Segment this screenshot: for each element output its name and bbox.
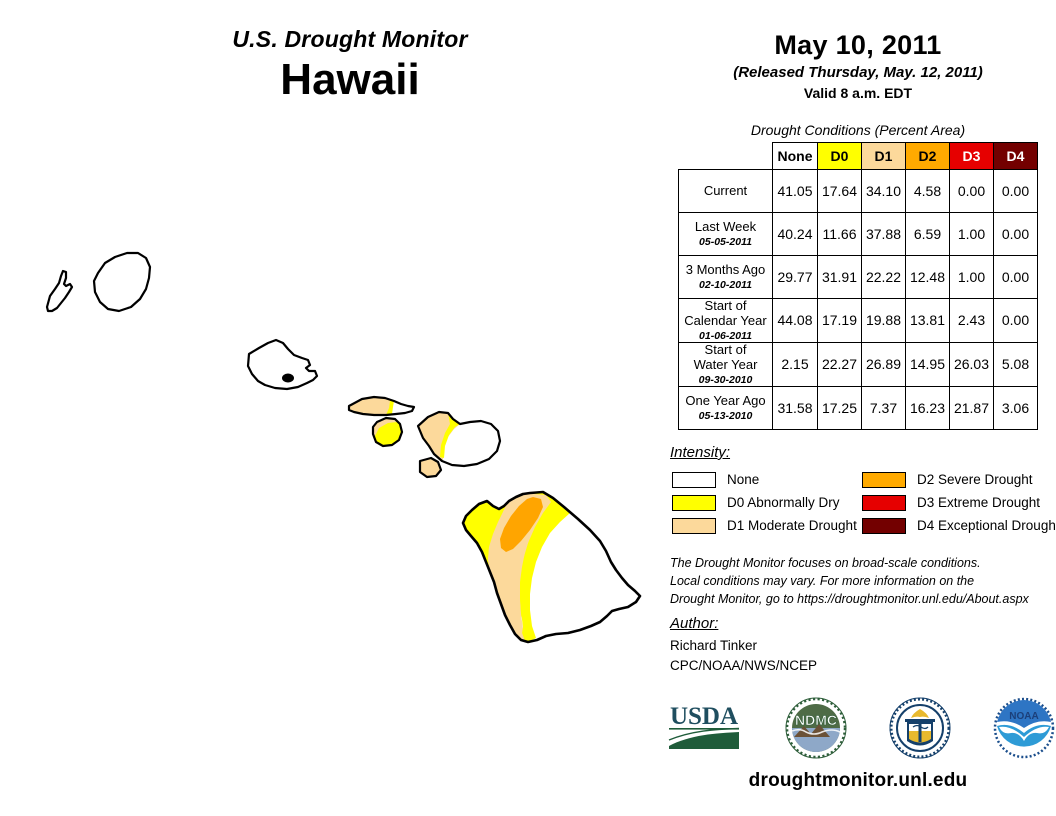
cell-2-4: 1.00 <box>950 256 994 299</box>
cell-5-5: 3.06 <box>994 386 1038 429</box>
cell-1-2: 37.88 <box>862 213 906 256</box>
row-label-0: Current <box>679 170 773 213</box>
svg-text:NDMC: NDMC <box>795 712 837 728</box>
row-label-line: Calendar Year <box>679 314 772 329</box>
cell-2-2: 22.22 <box>862 256 906 299</box>
cell-1-5: 0.00 <box>994 213 1038 256</box>
column-header-d0: D0 <box>818 143 862 170</box>
column-header-d3: D3 <box>950 143 994 170</box>
island-oahu <box>248 340 317 389</box>
cell-3-2: 19.88 <box>862 299 906 343</box>
cell-5-4: 21.87 <box>950 386 994 429</box>
cell-2-5: 0.00 <box>994 256 1038 299</box>
cell-3-5: 0.00 <box>994 299 1038 343</box>
hawaii-drought-map <box>0 210 660 680</box>
author-name: Richard Tinker <box>670 636 817 656</box>
island-lanai <box>373 418 402 446</box>
legend-label-d2: D2 Severe Drought <box>917 472 1033 487</box>
cell-0-3: 4.58 <box>906 170 950 213</box>
cell-2-3: 12.48 <box>906 256 950 299</box>
cell-1-1: 11.66 <box>818 213 862 256</box>
row-label-2: 3 Months Ago02-10-2011 <box>679 256 773 299</box>
row-label-5: One Year Ago05-13-2010 <box>679 386 773 429</box>
date-block: May 10, 2011 (Released Thursday, May. 12… <box>662 30 1054 101</box>
row-label-date: 01-06-2011 <box>679 330 772 342</box>
legend-item-none: None <box>672 472 862 488</box>
cell-4-1: 22.27 <box>818 342 862 386</box>
legend-label-d1: D1 Moderate Drought <box>727 518 857 533</box>
intensity-heading: Intensity: <box>670 444 730 461</box>
legend-item-d2: D2 Severe Drought <box>862 472 1052 488</box>
cell-5-0: 31.58 <box>773 386 818 429</box>
page-title: U.S. Drought Monitor <box>130 26 570 53</box>
legend-swatch-d0 <box>672 495 716 511</box>
table-row: Last Week05-05-201140.2411.6637.886.591.… <box>679 213 1038 256</box>
legend-item-d1: D1 Moderate Drought <box>672 518 862 534</box>
cell-2-0: 29.77 <box>773 256 818 299</box>
legend-item-d0: D0 Abnormally Dry <box>672 495 862 511</box>
cell-4-2: 26.89 <box>862 342 906 386</box>
legend-swatch-d3 <box>862 495 906 511</box>
row-label-1: Last Week05-05-2011 <box>679 213 773 256</box>
legend-label-d0: D0 Abnormally Dry <box>727 495 840 510</box>
table-row: 3 Months Ago02-10-201129.7731.9122.2212.… <box>679 256 1038 299</box>
row-label-3: Start ofCalendar Year01-06-2011 <box>679 299 773 343</box>
legend-label-none: None <box>727 472 759 487</box>
cell-5-3: 16.23 <box>906 386 950 429</box>
noaa-logo: NOAA <box>993 697 1055 759</box>
row-label-line: Last Week <box>679 220 772 235</box>
department-of-commerce-seal <box>889 697 951 759</box>
cell-1-4: 1.00 <box>950 213 994 256</box>
island-kahoolawe <box>420 458 441 477</box>
oahu-marker-dot <box>282 374 294 383</box>
column-header-d4: D4 <box>994 143 1038 170</box>
cell-2-1: 31.91 <box>818 256 862 299</box>
cell-3-1: 17.19 <box>818 299 862 343</box>
cell-5-1: 17.25 <box>818 386 862 429</box>
cell-4-5: 5.08 <box>994 342 1038 386</box>
author-heading: Author: <box>670 615 718 632</box>
cell-0-2: 34.10 <box>862 170 906 213</box>
legend-item-d4: D4 Exceptional Drought <box>862 518 1052 534</box>
agency-logos: USDA NDMC NOAA <box>665 692 1055 764</box>
intensity-legend: NoneD2 Severe DroughtD0 Abnormally DryD3… <box>672 468 1042 537</box>
island-molokai <box>349 397 414 415</box>
disclaimer-text: The Drought Monitor focuses on broad-sca… <box>670 555 1050 608</box>
column-header-d2: D2 <box>906 143 950 170</box>
cell-3-3: 13.81 <box>906 299 950 343</box>
table-caption: Drought Conditions (Percent Area) <box>662 122 1054 138</box>
cell-4-3: 14.95 <box>906 342 950 386</box>
island-niihau <box>47 271 72 311</box>
row-label-line: 3 Months Ago <box>679 263 772 278</box>
cell-0-0: 41.05 <box>773 170 818 213</box>
cell-5-2: 7.37 <box>862 386 906 429</box>
disclaimer-line-2: Local conditions may vary. For more info… <box>670 573 1050 591</box>
row-label-date: 05-05-2011 <box>679 236 772 248</box>
disclaimer-line-3: Drought Monitor, go to https://droughtmo… <box>670 591 1050 609</box>
cell-1-0: 40.24 <box>773 213 818 256</box>
column-header-none: None <box>773 143 818 170</box>
valid-time: Valid 8 a.m. EDT <box>662 85 1054 101</box>
legend-swatch-d4 <box>862 518 906 534</box>
row-label-date: 02-10-2011 <box>679 279 772 291</box>
cell-4-4: 26.03 <box>950 342 994 386</box>
cell-1-3: 6.59 <box>906 213 950 256</box>
cell-3-4: 2.43 <box>950 299 994 343</box>
table-row: Start ofWater Year09-30-20102.1522.2726.… <box>679 342 1038 386</box>
cell-0-4: 0.00 <box>950 170 994 213</box>
island-hawaii-big-island <box>463 492 640 642</box>
author-affiliation: CPC/NOAA/NWS/NCEP <box>670 656 817 676</box>
table-row: Start ofCalendar Year01-06-201144.0817.1… <box>679 299 1038 343</box>
disclaimer-line-1: The Drought Monitor focuses on broad-sca… <box>670 555 1050 573</box>
row-label-date: 05-13-2010 <box>679 410 772 422</box>
legend-item-d3: D3 Extreme Drought <box>862 495 1052 511</box>
footer-url: droughtmonitor.unl.edu <box>662 770 1054 792</box>
legend-swatch-d2 <box>862 472 906 488</box>
legend-swatch-none <box>672 472 716 488</box>
row-label-date: 09-30-2010 <box>679 374 772 386</box>
cell-4-0: 2.15 <box>773 342 818 386</box>
row-label-line: Current <box>679 184 772 199</box>
island-kauai <box>94 253 150 311</box>
row-label-line: Water Year <box>679 358 772 373</box>
author-block: Richard Tinker CPC/NOAA/NWS/NCEP <box>670 636 817 677</box>
table-row: Current41.0517.6434.104.580.000.00 <box>679 170 1038 213</box>
table-corner-cell <box>679 143 773 170</box>
release-date: (Released Thursday, May. 12, 2011) <box>662 64 1054 81</box>
valid-date: May 10, 2011 <box>662 30 1054 61</box>
row-label-line: Start of <box>679 343 772 358</box>
row-label-line: Start of <box>679 299 772 314</box>
row-label-4: Start ofWater Year09-30-2010 <box>679 342 773 386</box>
legend-label-d3: D3 Extreme Drought <box>917 495 1040 510</box>
cell-3-0: 44.08 <box>773 299 818 343</box>
table-header-row: None D0 D1 D2 D3 D4 <box>679 143 1038 170</box>
legend-swatch-d1 <box>672 518 716 534</box>
ndmc-logo: NDMC <box>785 697 847 759</box>
column-header-d1: D1 <box>862 143 906 170</box>
drought-conditions-table: None D0 D1 D2 D3 D4 Current41.0517.6434.… <box>678 142 1038 430</box>
cell-0-5: 0.00 <box>994 170 1038 213</box>
svg-text:NOAA: NOAA <box>1009 711 1038 722</box>
legend-label-d4: D4 Exceptional Drought <box>917 518 1056 533</box>
state-title: Hawaii <box>130 55 570 104</box>
usda-logo: USDA <box>665 699 743 757</box>
title-block: U.S. Drought Monitor Hawaii <box>130 26 570 104</box>
table-row: One Year Ago05-13-201031.5817.257.3716.2… <box>679 386 1038 429</box>
cell-0-1: 17.64 <box>818 170 862 213</box>
row-label-line: One Year Ago <box>679 394 772 409</box>
svg-text:USDA: USDA <box>670 703 738 730</box>
